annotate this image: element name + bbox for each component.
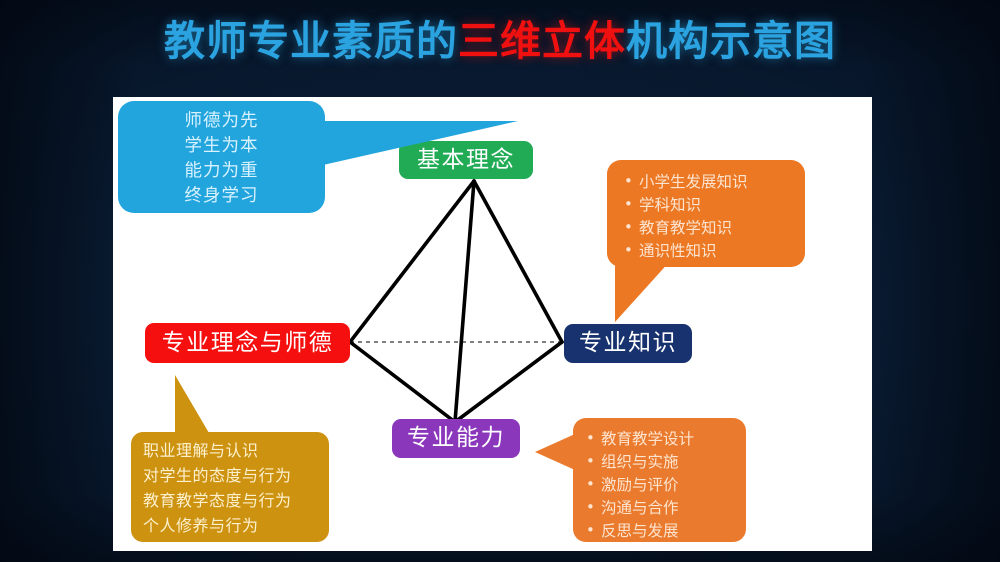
list-item: 激励与评价 (585, 474, 746, 497)
callout-orange-1-tail (615, 260, 671, 322)
callout-orange-2-list: 教育教学设计 组织与实施 激励与评价 沟通与合作 反思与发展 (573, 418, 746, 543)
callout-orange-1-list: 小学生发展知识 学科知识 教育教学知识 通识性知识 (607, 160, 805, 263)
list-item: 组织与实施 (585, 451, 746, 474)
slide-canvas: 教师专业素质的三维立体机构示意图 师德为先 学生为本 能力为重 终身学习 小学生… (0, 0, 1000, 562)
callout-blue-text: 师德为先 学生为本 能力为重 终身学习 (118, 101, 325, 209)
list-item: 教育教学设计 (585, 428, 746, 451)
title-part-2: 三维立体 (458, 17, 626, 65)
callout-gold-tail (175, 375, 209, 433)
node-professional-knowledge[interactable]: 专业知识 (564, 324, 692, 363)
title-part-3: 机构示意图 (626, 17, 836, 65)
page-title: 教师专业素质的三维立体机构示意图 (0, 17, 1000, 65)
list-item: 反思与发展 (585, 520, 746, 543)
node-professional-ethics[interactable]: 专业理念与师德 (145, 323, 350, 363)
title-part-1: 教师专业素质的 (164, 17, 458, 65)
list-item: 小学生发展知识 (623, 171, 805, 194)
callout-basic-concepts[interactable]: 师德为先 学生为本 能力为重 终身学习 (118, 101, 325, 213)
callout-gold-text: 职业理解与认识 对学生的态度与行为 教育教学态度与行为 个人修养与行为 (131, 432, 329, 538)
node-professional-ability[interactable]: 专业能力 (392, 419, 520, 458)
callout-professional-ability[interactable]: 教育教学设计 组织与实施 激励与评价 沟通与合作 反思与发展 (573, 418, 746, 542)
callout-orange-2-tail (535, 434, 575, 470)
callout-blue-tail (323, 121, 518, 165)
list-item: 沟通与合作 (585, 497, 746, 520)
list-item: 学科知识 (623, 194, 805, 217)
callout-professional-knowledge[interactable]: 小学生发展知识 学科知识 教育教学知识 通识性知识 (607, 160, 805, 267)
list-item: 通识性知识 (623, 240, 805, 263)
list-item: 教育教学知识 (623, 217, 805, 240)
callout-professional-ethics[interactable]: 职业理解与认识 对学生的态度与行为 教育教学态度与行为 个人修养与行为 (131, 432, 329, 542)
